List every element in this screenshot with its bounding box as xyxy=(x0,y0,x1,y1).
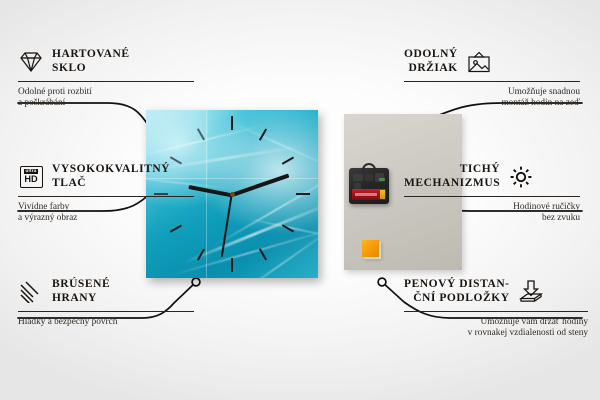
divider xyxy=(18,81,194,82)
feature-description: Umožňuje snadnou montáž hodin na zeď xyxy=(404,87,580,110)
divider xyxy=(404,311,588,312)
feature-description: Hladký a bezpečný povrch xyxy=(18,317,194,328)
divider xyxy=(404,81,580,82)
feature-description: Vivídne farby a výrazný obraz xyxy=(18,202,194,225)
feature-high-quality-print: ultra HD VYSOKOKVALITNÝ TLAČ Vivídne far… xyxy=(18,163,194,225)
feature-durable-hanger: ODOLNÝ DRŽIAK Umožňuje snadnou montáž ho… xyxy=(404,48,580,110)
wire-dot-right-3 xyxy=(378,278,386,286)
clock-mechanism xyxy=(349,168,389,204)
divider xyxy=(18,196,194,197)
feature-title: HARTOVANÉ SKLO xyxy=(52,48,130,75)
feature-title: PENOVÝ DISTAN- ČNÍ PODLOŽKY xyxy=(404,278,510,305)
ground-edges-icon xyxy=(18,279,44,305)
divider xyxy=(404,196,580,197)
feature-title: BRÚSENÉ HRANY xyxy=(52,278,110,305)
ultra-hd-icon: ultra HD xyxy=(18,164,44,190)
tick-6 xyxy=(231,258,233,272)
feature-description: Hodinové ručičky bez zvuku xyxy=(404,202,580,225)
feature-title: TICHÝ MECHANIZMUS xyxy=(404,163,500,190)
diamond-icon xyxy=(18,49,44,75)
feature-title: ODOLNÝ DRŽIAK xyxy=(404,48,458,75)
infographic-canvas: HARTOVANÉ SKLO Odolné proti rozbití a po… xyxy=(0,0,600,400)
feature-description: Odolné proti rozbití a poškrábání xyxy=(18,87,194,110)
clock-hub xyxy=(230,192,235,197)
wall-hanger-picture-icon xyxy=(466,49,492,75)
feature-ground-edges: BRÚSENÉ HRANY Hladký a bezpečný povrch xyxy=(18,278,194,328)
tick-3 xyxy=(296,193,310,195)
feature-hardened-glass: HARTOVANÉ SKLO Odolné proti rozbití a po… xyxy=(18,48,194,110)
battery xyxy=(352,189,386,200)
foam-spacer-pad xyxy=(362,240,379,257)
feature-description: Umožňuje vám držať hodiny v rovnakej vzd… xyxy=(404,317,588,340)
divider xyxy=(18,311,194,312)
foam-spacer-arrow-icon xyxy=(518,279,544,305)
tick-12 xyxy=(231,116,233,130)
feature-foam-spacers: PENOVÝ DISTAN- ČNÍ PODLOŽKY Umožňuje vám… xyxy=(404,278,588,340)
feature-title: VYSOKOKVALITNÝ TLAČ xyxy=(52,163,170,190)
hanger-loop-icon xyxy=(362,163,376,172)
gear-icon xyxy=(508,164,534,190)
feature-silent-mechanism: TICHÝ MECHANIZMUS Hodinové ručičky bez z… xyxy=(404,163,580,225)
